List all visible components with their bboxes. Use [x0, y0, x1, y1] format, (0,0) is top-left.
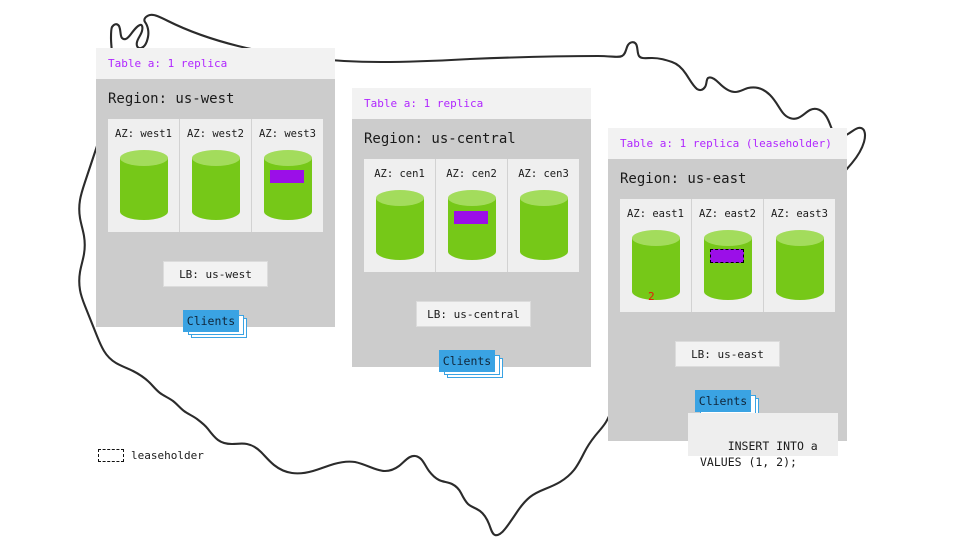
region-card-us-east: Table a: 1 replica (leaseholder) Region:…	[608, 128, 847, 441]
node-cylinder-cen1[interactable]	[376, 190, 424, 260]
az-cell-west2[interactable]: AZ: west2	[179, 119, 251, 232]
az-container-us-west: AZ: west1 AZ: west2 AZ: west3	[108, 119, 323, 232]
cylinder-top	[192, 150, 240, 166]
cylinder-top	[264, 150, 312, 166]
clients-stack-us-central[interactable]: Clients	[439, 350, 507, 380]
node-cylinder-east3[interactable]	[776, 230, 824, 300]
dashed-rectangle-icon	[98, 449, 124, 462]
node-cylinder-east2[interactable]	[704, 230, 752, 300]
cylinder-top	[376, 190, 424, 206]
card-body-us-west: Region: us-west AZ: west1 AZ: west2	[96, 79, 335, 327]
region-card-us-central: Table a: 1 replica Region: us-central AZ…	[352, 88, 591, 367]
clients-button-us-east[interactable]: Clients	[695, 390, 751, 412]
az-cell-east3[interactable]: AZ: east3	[763, 199, 835, 312]
az-label: AZ: east3	[771, 208, 828, 220]
region-title: Region: us-west	[108, 91, 234, 107]
az-cell-west1[interactable]: AZ: west1	[108, 119, 179, 232]
cylinder-top	[120, 150, 168, 166]
az-cell-west3[interactable]: AZ: west3	[251, 119, 323, 232]
card-header-us-east: Table a: 1 replica (leaseholder)	[608, 128, 847, 159]
card-body-us-east: Region: us-east AZ: east1 AZ: east2	[608, 159, 847, 441]
node-cylinder-west3[interactable]	[264, 150, 312, 220]
load-balancer-us-east[interactable]: LB: us-east	[675, 341, 780, 367]
az-label: AZ: cen1	[374, 168, 425, 180]
card-body-us-central: Region: us-central AZ: cen1 AZ: cen2	[352, 119, 591, 367]
arrow-step-label: 2	[648, 290, 655, 303]
replica-bar-east2-leaseholder[interactable]	[710, 249, 744, 263]
region-title: Region: us-east	[620, 171, 746, 187]
cylinder-body	[704, 238, 752, 300]
az-label: AZ: west3	[259, 128, 316, 140]
card-header-label: Table a: 1 replica	[364, 97, 483, 110]
cylinder-body	[192, 158, 240, 220]
cylinder-top	[704, 230, 752, 246]
cylinder-body	[448, 198, 496, 260]
node-cylinder-cen2[interactable]	[448, 190, 496, 260]
replica-bar-cen2[interactable]	[454, 211, 488, 224]
lb-label: LB: us-west	[179, 268, 252, 281]
az-container-us-central: AZ: cen1 AZ: cen2 AZ: cen3	[364, 159, 579, 272]
clients-button-us-west[interactable]: Clients	[183, 310, 239, 332]
clients-stack-us-west[interactable]: Clients	[183, 310, 251, 340]
node-cylinder-cen3[interactable]	[520, 190, 568, 260]
cylinder-body	[376, 198, 424, 260]
cylinder-top	[632, 230, 680, 246]
node-cylinder-west2[interactable]	[192, 150, 240, 220]
cylinder-top	[448, 190, 496, 206]
az-label: AZ: cen3	[518, 168, 569, 180]
lb-label: LB: us-east	[691, 348, 764, 361]
az-cell-cen2[interactable]: AZ: cen2	[435, 159, 507, 272]
legend-leaseholder: leaseholder	[98, 449, 204, 462]
az-label: AZ: cen2	[446, 168, 497, 180]
cylinder-top	[520, 190, 568, 206]
legend-label: leaseholder	[131, 449, 204, 462]
cylinder-top	[776, 230, 824, 246]
clients-label: Clients	[187, 314, 235, 328]
load-balancer-us-west[interactable]: LB: us-west	[163, 261, 268, 287]
lb-label: LB: us-central	[427, 308, 520, 321]
card-header-us-central: Table a: 1 replica	[352, 88, 591, 119]
card-header-us-west: Table a: 1 replica	[96, 48, 335, 79]
load-balancer-us-central[interactable]: LB: us-central	[416, 301, 531, 327]
az-label: AZ: west1	[115, 128, 172, 140]
az-cell-east2[interactable]: AZ: east2	[691, 199, 763, 312]
node-cylinder-west1[interactable]	[120, 150, 168, 220]
az-label: AZ: west2	[187, 128, 244, 140]
card-header-label: Table a: 1 replica	[108, 57, 227, 70]
cylinder-body	[520, 198, 568, 260]
region-card-us-west: Table a: 1 replica Region: us-west AZ: w…	[96, 48, 335, 327]
region-title: Region: us-central	[364, 131, 516, 147]
az-cell-cen1[interactable]: AZ: cen1	[364, 159, 435, 272]
replica-bar-west3[interactable]	[270, 170, 304, 183]
card-header-label: Table a: 1 replica (leaseholder)	[620, 137, 832, 150]
az-cell-cen3[interactable]: AZ: cen3	[507, 159, 579, 272]
az-label: AZ: east2	[699, 208, 756, 220]
cylinder-body	[632, 238, 680, 300]
clients-button-us-central[interactable]: Clients	[439, 350, 495, 372]
clients-label: Clients	[699, 394, 747, 408]
clients-label: Clients	[443, 354, 491, 368]
cylinder-body	[120, 158, 168, 220]
sql-statement-box: INSERT INTO a VALUES (1, 2);	[688, 413, 838, 456]
node-cylinder-east1[interactable]	[632, 230, 680, 300]
cylinder-body	[776, 238, 824, 300]
az-label: AZ: east1	[627, 208, 684, 220]
diagram-canvas: Table a: 1 replica Region: us-west AZ: w…	[0, 0, 960, 540]
cylinder-body	[264, 158, 312, 220]
az-cell-east1[interactable]: AZ: east1	[620, 199, 691, 312]
